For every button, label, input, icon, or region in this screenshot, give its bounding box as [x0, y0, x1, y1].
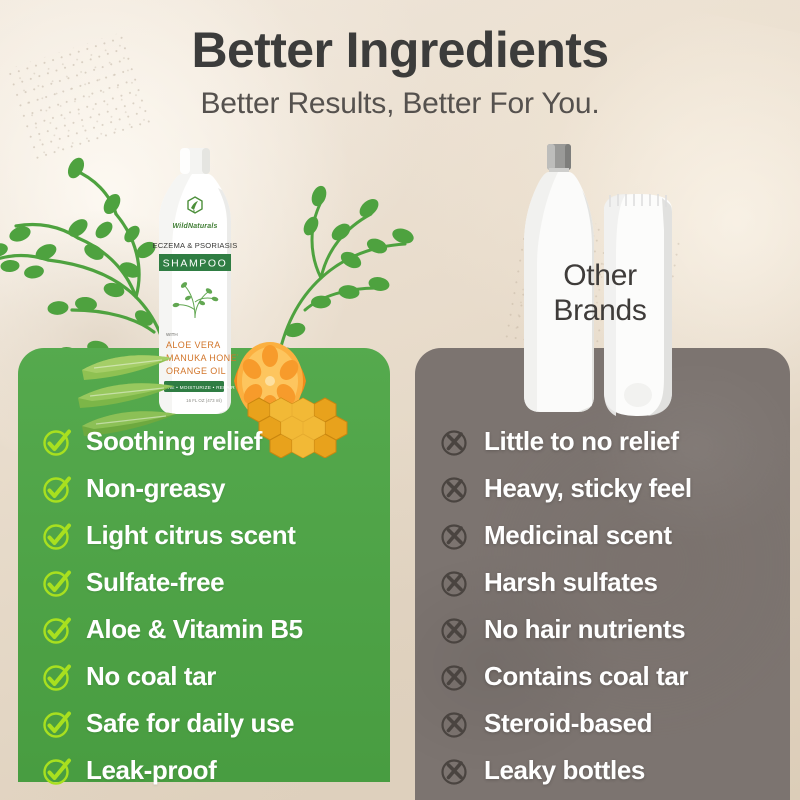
list-item-label: Steroid-based: [484, 708, 652, 739]
list-item: Aloe & Vitamin B5: [42, 606, 392, 653]
list-item-label: Little to no relief: [484, 426, 679, 457]
cross-circle-icon: [440, 568, 470, 598]
list-item-label: Harsh sulfates: [484, 567, 658, 598]
list-item-label: No hair nutrients: [484, 614, 685, 645]
svg-text:WITH: WITH: [166, 332, 178, 337]
drawbacks-list: Little to no relief Heavy, sticky feel M…: [440, 418, 790, 794]
list-item: No coal tar: [42, 653, 392, 700]
list-item: Harsh sulfates: [440, 559, 790, 606]
list-item: Non-greasy: [42, 465, 392, 512]
list-item: Sulfate-free: [42, 559, 392, 606]
product-imagery: WildNaturals ECZEMA & PSORIASIS SHAMPOO …: [0, 140, 400, 440]
benefits-list: Soothing relief Non-greasy Light citrus …: [42, 418, 392, 794]
page-title: Better Ingredients: [0, 24, 800, 77]
check-circle-icon: [42, 709, 72, 739]
list-item-label: Light citrus scent: [86, 520, 296, 551]
header: Better Ingredients Better Results, Bette…: [0, 0, 800, 121]
check-circle-icon: [42, 662, 72, 692]
list-item-label: Heavy, sticky feel: [484, 473, 692, 504]
check-circle-icon: [42, 521, 72, 551]
svg-text:ECZEMA & PSORIASIS: ECZEMA & PSORIASIS: [152, 241, 237, 250]
list-item: Safe for daily use: [42, 700, 392, 747]
list-item: Little to no relief: [440, 418, 790, 465]
list-item-label: Sulfate-free: [86, 567, 224, 598]
list-item-label: Medicinal scent: [484, 520, 672, 551]
list-item: Contains coal tar: [440, 653, 790, 700]
check-circle-icon: [42, 427, 72, 457]
page-subtitle: Better Results, Better For You.: [0, 87, 800, 121]
list-item: Heavy, sticky feel: [440, 465, 790, 512]
cross-circle-icon: [440, 427, 470, 457]
list-item: Leaky bottles: [440, 747, 790, 794]
list-item: Steroid-based: [440, 700, 790, 747]
competitor-tube: [592, 190, 684, 420]
list-item-label: Leaky bottles: [484, 755, 645, 786]
check-circle-icon: [42, 474, 72, 504]
list-item-label: No coal tar: [86, 661, 216, 692]
cross-circle-icon: [440, 756, 470, 786]
competitor-bottle: [518, 144, 600, 414]
list-item: Leak-proof: [42, 747, 392, 794]
svg-text:SHAMPOO: SHAMPOO: [163, 258, 228, 270]
list-item-label: Leak-proof: [86, 755, 216, 786]
check-circle-icon: [42, 756, 72, 786]
list-item-label: Non-greasy: [86, 473, 225, 504]
svg-text:WildNaturals: WildNaturals: [172, 223, 217, 230]
check-circle-icon: [42, 568, 72, 598]
cross-circle-icon: [440, 474, 470, 504]
list-item: Light citrus scent: [42, 512, 392, 559]
cross-circle-icon: [440, 662, 470, 692]
cross-circle-icon: [440, 615, 470, 645]
list-item-label: Safe for daily use: [86, 708, 294, 739]
list-item: No hair nutrients: [440, 606, 790, 653]
list-item-label: Soothing relief: [86, 426, 262, 457]
list-item: Soothing relief: [42, 418, 392, 465]
list-item-label: Aloe & Vitamin B5: [86, 614, 303, 645]
check-circle-icon: [42, 615, 72, 645]
competitor-imagery: Other Brands: [400, 140, 800, 440]
cross-circle-icon: [440, 521, 470, 551]
list-item: Medicinal scent: [440, 512, 790, 559]
list-item-label: Contains coal tar: [484, 661, 688, 692]
cross-circle-icon: [440, 709, 470, 739]
